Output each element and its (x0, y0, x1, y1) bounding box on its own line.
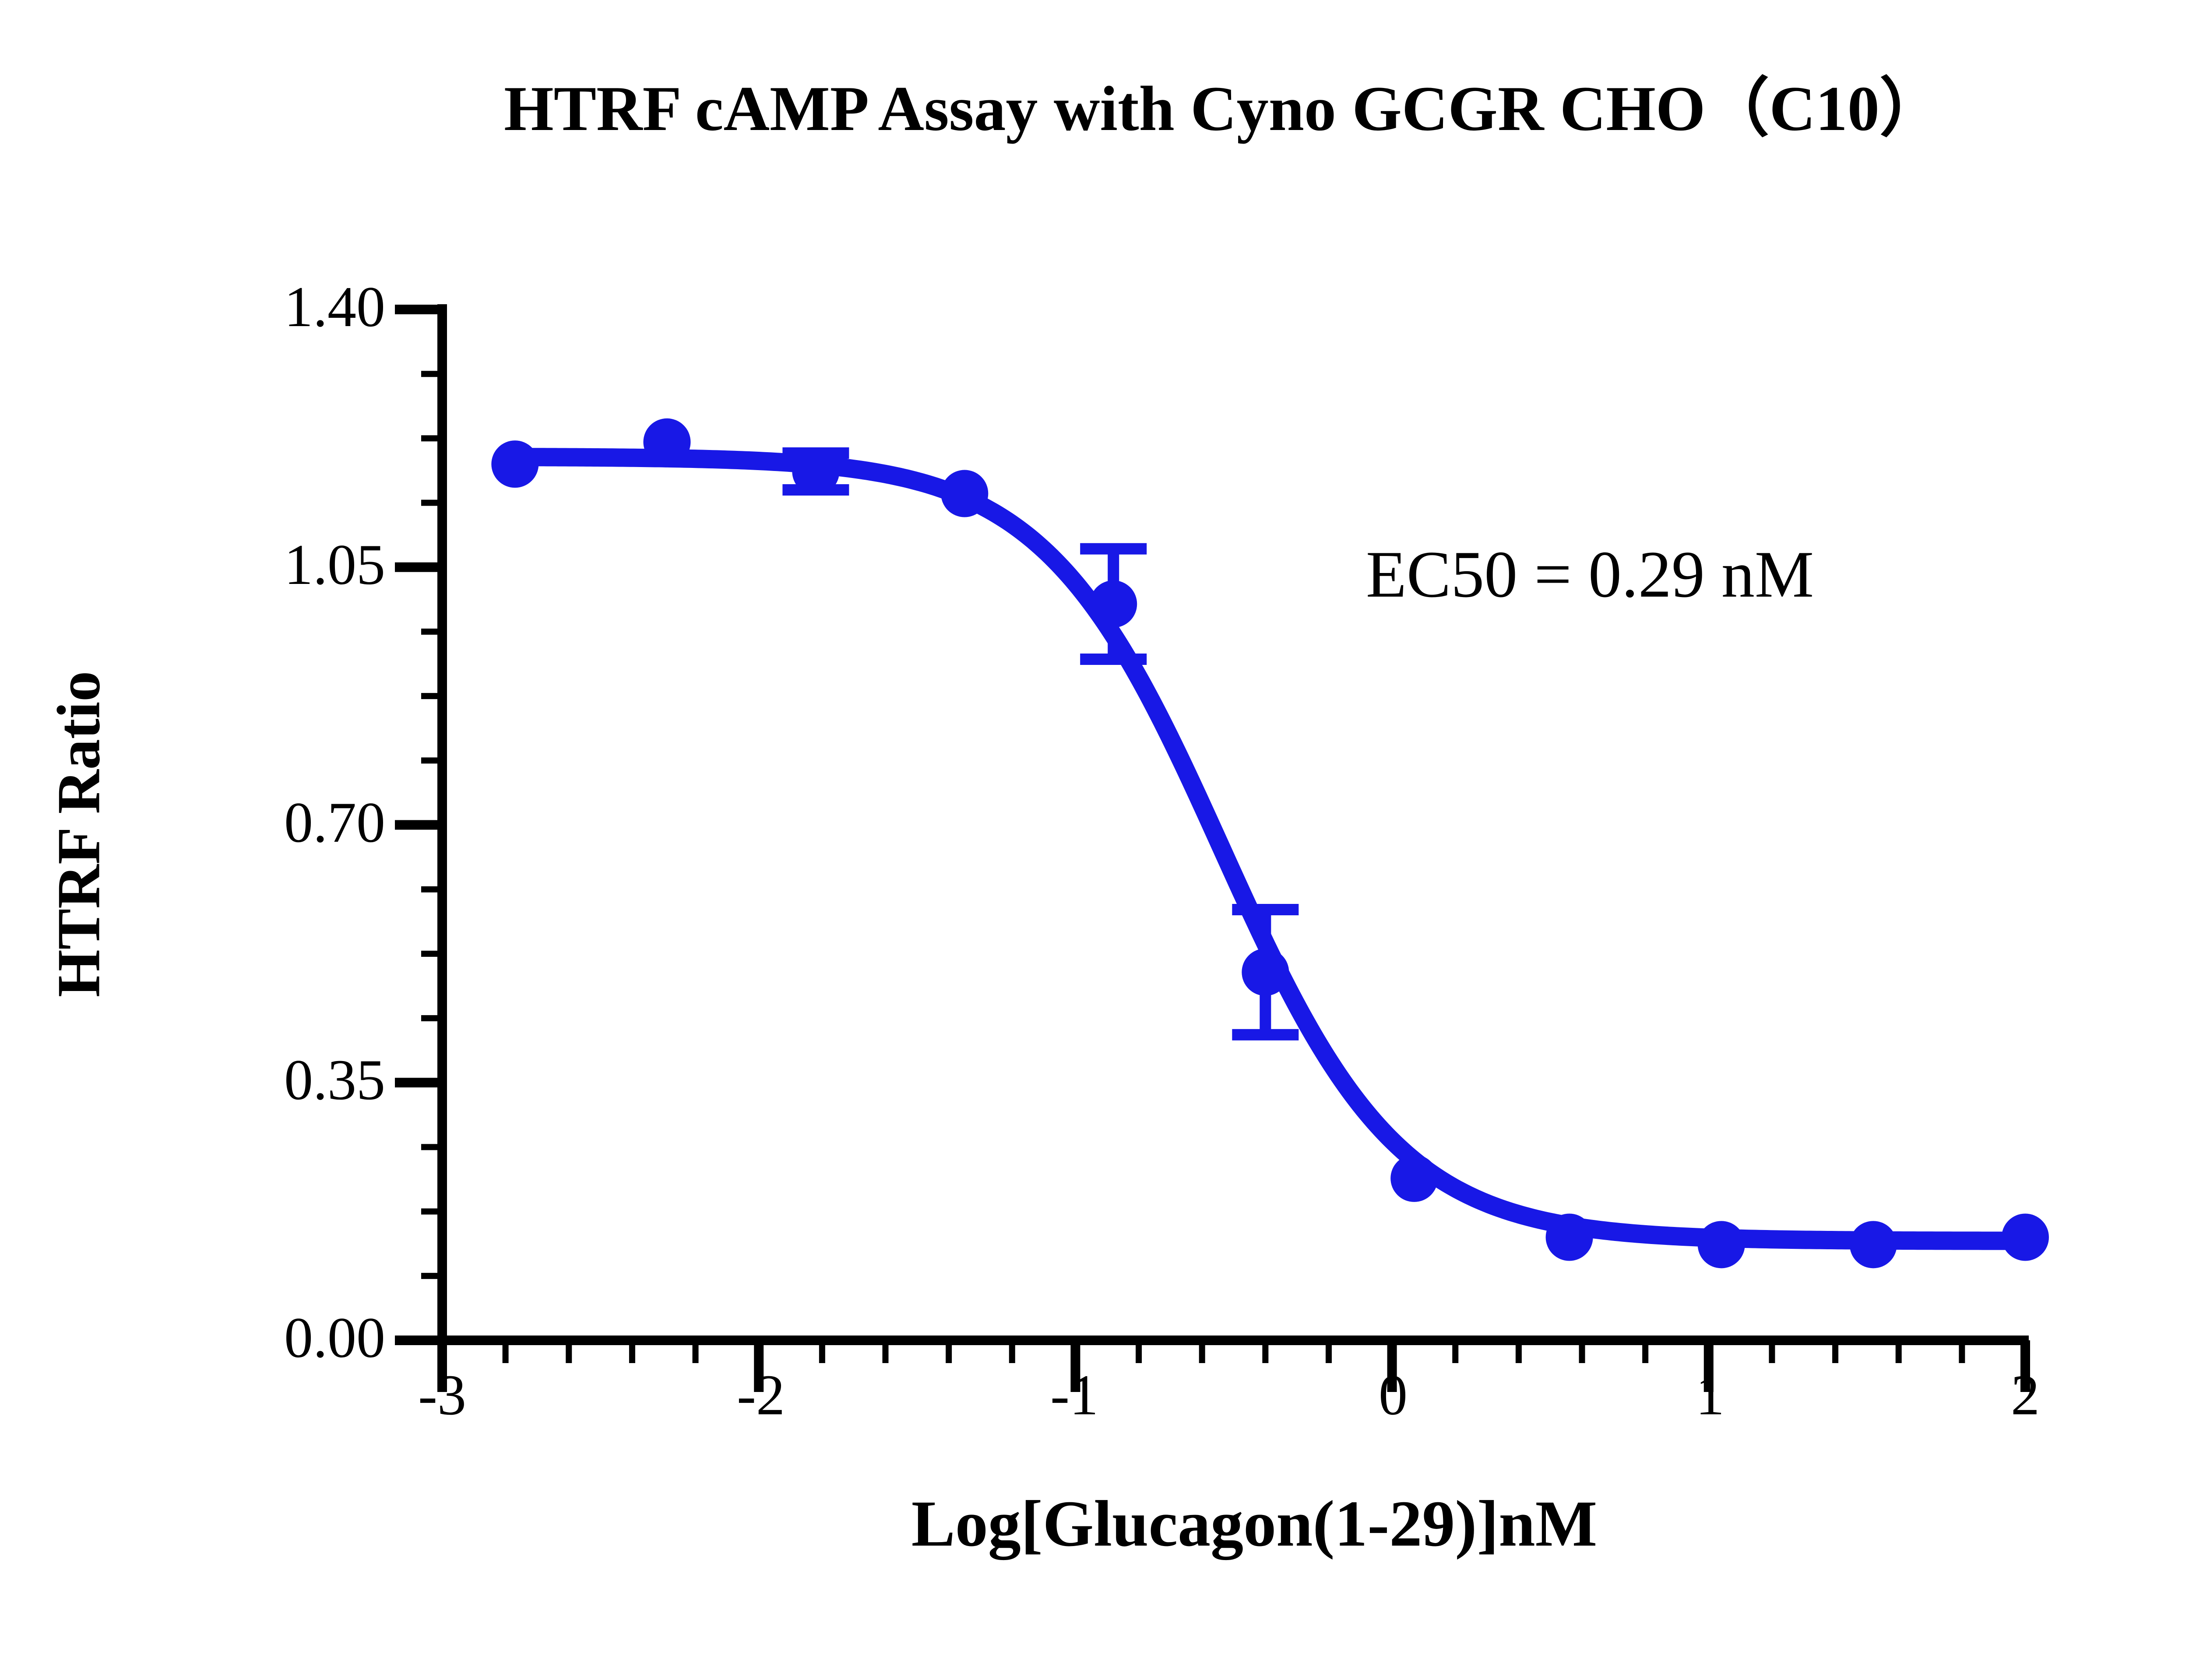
data-point-marker (1390, 1155, 1438, 1202)
data-point-marker (792, 448, 839, 495)
data-series-group (491, 418, 2049, 1269)
data-point-marker (491, 440, 538, 488)
data-point-marker (1090, 580, 1137, 628)
fit-curve (515, 457, 2025, 1241)
chart-figure: HTRF cAMP Assay with Cyno GCGR CHO（C10） … (0, 0, 2189, 1680)
plot-area (0, 0, 2189, 1680)
data-point-marker (1850, 1221, 1897, 1268)
data-point-marker (643, 418, 690, 466)
data-point-marker (2002, 1214, 2049, 1261)
data-point-marker (941, 470, 988, 517)
data-point-marker (1546, 1214, 1593, 1261)
data-point-marker (1698, 1221, 1745, 1268)
data-point-marker (1242, 949, 1289, 996)
